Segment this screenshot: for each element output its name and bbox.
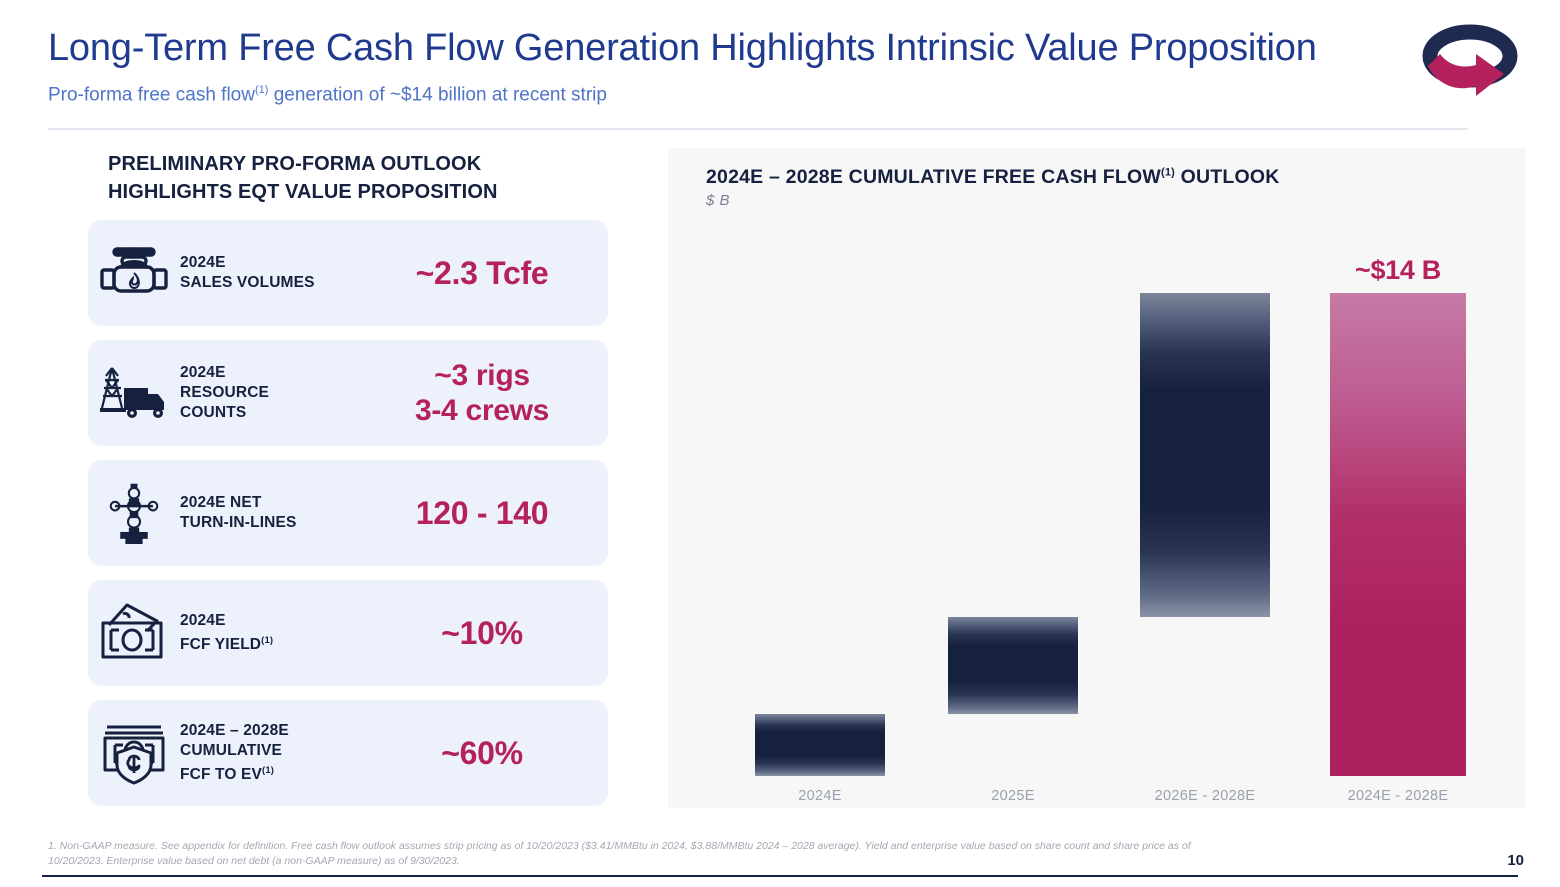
footnote-marker: (1) xyxy=(262,765,274,776)
slide-root: Long-Term Free Cash Flow Generation High… xyxy=(0,0,1560,887)
metric-label-line: FCF TO EV(1) xyxy=(180,761,370,785)
chart-x-axis-label: 2025E xyxy=(913,788,1113,804)
slide-header: Long-Term Free Cash Flow Generation High… xyxy=(48,26,1468,107)
metric-card-label: 2024E SALES VOLUMES xyxy=(180,253,370,293)
chart-bar xyxy=(1140,293,1270,618)
drilling-rig-truck-icon xyxy=(88,362,180,424)
left-panel-title-line1: PRELIMINARY PRO-FORMA OUTLOOK xyxy=(108,150,608,178)
metric-label-line: TURN-IN-LINES xyxy=(180,513,370,533)
metric-value-line: ~60% xyxy=(441,735,523,771)
chart-x-axis-label: 2024E - 2028E xyxy=(1298,788,1498,804)
metric-label-line: 2024E xyxy=(180,363,370,383)
metric-value-line: ~2.3 Tcfe xyxy=(416,255,549,291)
metric-card-value: 120 - 140 xyxy=(370,496,608,531)
left-panel: PRELIMINARY PRO-FORMA OUTLOOK HIGHLIGHTS… xyxy=(88,150,608,806)
cash-bills-icon xyxy=(88,603,180,663)
metric-card-value: ~3 rigs 3-4 crews xyxy=(370,358,608,428)
left-panel-title-line2: HIGHLIGHTS EQT VALUE PROPOSITION xyxy=(108,178,608,206)
page-number: 10 xyxy=(1507,852,1524,869)
metric-card-sales-volumes[interactable]: 2024E SALES VOLUMES ~2.3 Tcfe xyxy=(88,220,608,326)
metric-card-label: 2024E – 2028E CUMULATIVE FCF TO EV(1) xyxy=(180,721,370,785)
chart-x-axis-label: 2024E xyxy=(720,788,920,804)
subtitle-text-post: generation of ~$14 billion at recent str… xyxy=(268,84,607,105)
subtitle-text-pre: Pro-forma free cash flow xyxy=(48,84,255,105)
metric-label-line: COUNTS xyxy=(180,403,370,423)
header-divider xyxy=(48,128,1468,130)
metric-card-value: ~10% xyxy=(370,616,608,651)
gas-valve-flame-icon xyxy=(88,244,180,302)
chart-x-axis-label: 2026E - 2028E xyxy=(1105,788,1305,804)
metric-card-fcf-yield[interactable]: 2024E FCF YIELD(1) ~10% xyxy=(88,580,608,686)
footnote: 1. Non-GAAP measure. See appendix for de… xyxy=(48,839,1388,869)
metric-label-line: 2024E xyxy=(180,253,370,273)
metric-card-label: 2024E RESOURCE COUNTS xyxy=(180,363,370,423)
footnote-line-2: 10/20/2023. Enterprise value based on ne… xyxy=(48,854,1388,869)
chart-panel: 2024E – 2028E CUMULATIVE FREE CASH FLOW(… xyxy=(668,148,1526,808)
page-title: Long-Term Free Cash Flow Generation High… xyxy=(48,26,1468,70)
metric-label-line: FCF YIELD(1) xyxy=(180,631,370,655)
metric-card-list: 2024E SALES VOLUMES ~2.3 Tcfe xyxy=(88,220,608,806)
footnote-marker: (1) xyxy=(261,635,273,646)
metric-card-turn-in-lines[interactable]: 2024E NET TURN-IN-LINES 120 - 140 xyxy=(88,460,608,566)
metric-card-value: ~60% xyxy=(370,736,608,771)
subtitle-footnote-marker: (1) xyxy=(255,84,268,96)
metric-label-text: FCF TO EV xyxy=(180,766,262,783)
footer-divider xyxy=(42,875,1518,877)
metric-label-line: SALES VOLUMES xyxy=(180,273,370,293)
chart-bar xyxy=(948,617,1078,714)
metric-label-line: 2024E – 2028E xyxy=(180,721,370,741)
metric-label-line: 2024E NET xyxy=(180,493,370,513)
metric-value-line: 120 - 140 xyxy=(416,495,549,531)
metric-card-label: 2024E FCF YIELD(1) xyxy=(180,611,370,655)
metric-card-cumulative-fcf-to-ev[interactable]: 2024E – 2028E CUMULATIVE FCF TO EV(1) ~6… xyxy=(88,700,608,806)
page-subtitle: Pro-forma free cash flow(1) generation o… xyxy=(48,78,1468,107)
metric-card-resource-counts[interactable]: 2024E RESOURCE COUNTS ~3 rigs 3-4 crews xyxy=(88,340,608,446)
wellhead-christmas-tree-icon xyxy=(88,477,180,549)
metric-label-line: CUMULATIVE xyxy=(180,741,370,761)
metric-label-text: FCF YIELD xyxy=(180,636,261,653)
chart-bar xyxy=(755,714,885,776)
metric-value-line: 3-4 crews xyxy=(370,393,594,428)
cash-shield-icon xyxy=(88,721,180,785)
eqt-logo xyxy=(1418,22,1522,102)
metric-card-label: 2024E NET TURN-IN-LINES xyxy=(180,493,370,533)
metric-value-line: ~3 rigs xyxy=(370,358,594,393)
metric-label-line: RESOURCE xyxy=(180,383,370,403)
metric-label-line: 2024E xyxy=(180,611,370,631)
left-panel-title: PRELIMINARY PRO-FORMA OUTLOOK HIGHLIGHTS… xyxy=(88,150,608,206)
chart-value-callout: ~$14 B xyxy=(1298,255,1498,286)
chart-plot-area: 2024E2025E2026E - 2028E2024E - 2028E~$14… xyxy=(668,148,1526,808)
metric-value-line: ~10% xyxy=(441,615,523,651)
metric-card-value: ~2.3 Tcfe xyxy=(370,256,608,291)
footnote-line-1: 1. Non-GAAP measure. See appendix for de… xyxy=(48,839,1388,854)
chart-bar xyxy=(1330,293,1466,776)
